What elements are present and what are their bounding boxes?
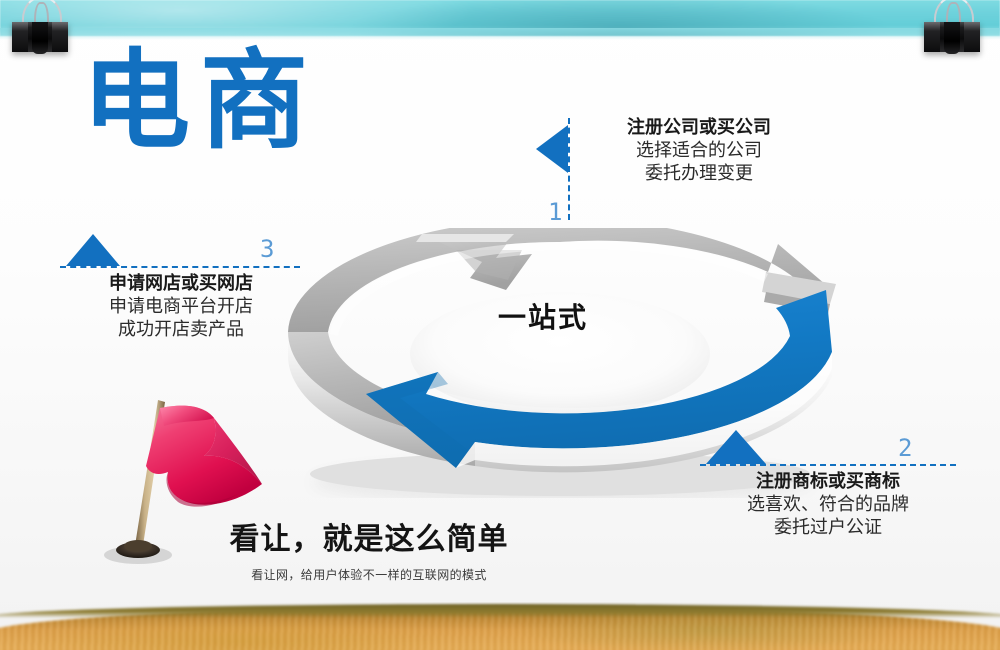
step-1-dashed-line [568,118,570,220]
clip-notch [944,22,960,54]
step-1-text: 注册公司或买公司 选择适合的公司 委托办理变更 [584,116,814,186]
step-3-text: 申请网店或买网店 申请电商平台开店 成功开店卖产品 [56,272,306,342]
step-2-line-2: 委托过户公证 [700,516,956,539]
step-1-number: 1 [548,200,562,224]
binder-clip-icon-right [924,0,980,54]
step-2-title: 注册商标或买商标 [700,470,956,493]
binder-clip-icon-left [12,0,68,54]
tagline-sub: 看让网，给用户体验不一样的互联网的模式 [204,566,534,583]
triangle-up-icon [706,430,766,464]
triangle-up-icon [66,234,120,266]
step-1-line-2: 委托办理变更 [584,162,814,185]
step-3-title: 申请网店或买网店 [56,272,306,295]
step-1-title: 注册公司或买公司 [584,116,814,139]
triangle-left-icon [536,125,568,173]
clip-notch [32,22,48,54]
poster-canvas: 电商 [0,0,1000,650]
step-2-dashed-line [700,464,956,466]
cycle-center-label: 一站式 [498,296,588,336]
step-2-line-1: 选喜欢、符合的品牌 [700,493,956,516]
step-3-number: 3 [260,237,274,261]
step-2-text: 注册商标或买商标 选喜欢、符合的品牌 委托过户公证 [700,470,956,540]
top-band-fade [0,28,1000,40]
tagline-main: 看让，就是这么简单 [204,514,534,558]
tagline-block: 看让，就是这么简单 看让网，给用户体验不一样的互联网的模式 [204,514,534,583]
step-3-line-2: 成功开店卖产品 [56,318,306,341]
page-title: 电商 [82,44,318,157]
bottom-photo-band [0,602,1000,650]
step-1-line-1: 选择适合的公司 [584,139,814,162]
step-3-dashed-line [60,266,300,268]
step-3-line-1: 申请电商平台开店 [56,295,306,318]
wheat-field-horizon [0,604,1000,618]
step-2-number: 2 [898,436,912,460]
